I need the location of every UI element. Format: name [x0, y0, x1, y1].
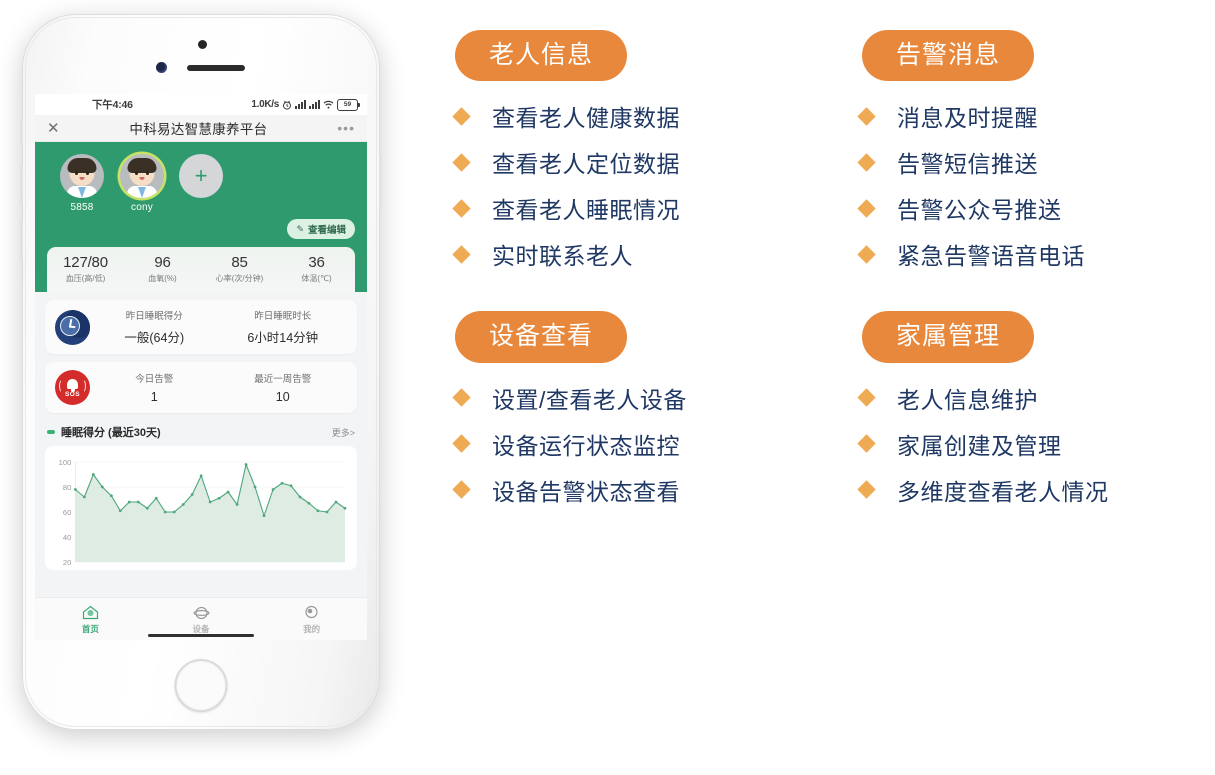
list-item: 实时联系老人: [455, 237, 860, 271]
list-item: 查看老人健康数据: [455, 99, 860, 133]
front-camera-icon: [198, 40, 207, 49]
screen-body: 昨日睡眠得分 一般(64分) 昨日睡眠时长 6小时14分钟 SOS: [35, 300, 367, 570]
list-item: 告警短信推送: [860, 145, 1200, 179]
feature-section-family-management: 家属管理 老人信息维护 家属创建及管理 多维度查看老人情况: [860, 311, 1200, 518]
svg-text:80: 80: [63, 483, 71, 492]
svg-text:40: 40: [63, 533, 71, 542]
bottom-tab-bar: 首页 设备 我的: [35, 597, 367, 640]
feature-list-elder-info: 查看老人健康数据 查看老人定位数据 查看老人睡眠情况 实时联系老人: [455, 99, 860, 271]
sleep-score-value: 一般(64分): [90, 327, 219, 346]
sleep-clock-icon: [55, 310, 90, 345]
avatar-name: cony: [119, 202, 165, 213]
feature-sections: 老人信息 查看老人健康数据 查看老人定位数据 查看老人睡眠情况 实时联系老人 告…: [455, 30, 1200, 519]
list-item: 告警公众号推送: [860, 191, 1200, 225]
vital-value: 96: [124, 254, 201, 271]
vital-heart-rate: 85 心率(次/分钟): [201, 254, 278, 284]
list-item-label: 设备告警状态查看: [492, 473, 680, 507]
silent-switch[interactable]: [20, 118, 23, 144]
tab-profile[interactable]: 我的: [256, 604, 367, 635]
status-bar: 下午4:46 1.0K/s 59: [35, 94, 367, 115]
list-item: 多维度查看老人情况: [860, 473, 1200, 507]
profile-hero: 5858 ✓ cony +: [35, 142, 367, 292]
list-item-label: 实时联系老人: [492, 237, 633, 271]
list-item: 设备告警状态查看: [455, 473, 860, 507]
list-item-label: 查看老人健康数据: [492, 99, 680, 133]
diamond-bullet-icon: [857, 245, 875, 263]
device-icon: [146, 604, 257, 621]
section-title-family-management: 家属管理: [862, 311, 1034, 362]
vital-value: 127/80: [47, 254, 124, 271]
list-item-label: 老人信息维护: [897, 381, 1038, 415]
page-title: 中科易达智慧康养平台: [60, 118, 338, 138]
section-title-elder-info: 老人信息: [455, 30, 627, 81]
section-title-device-view: 设备查看: [455, 311, 627, 362]
list-item-label: 告警公众号推送: [897, 191, 1062, 225]
today-alarm-value: 1: [90, 390, 219, 404]
view-edit-label: 查看编辑: [308, 222, 346, 236]
vital-blood-pressure: 127/80 血压(高/低): [47, 254, 124, 284]
sleep-duration-label: 昨日睡眠时长: [219, 308, 348, 322]
diamond-bullet-icon: [452, 480, 470, 498]
home-icon: [35, 604, 146, 621]
power-button[interactable]: [379, 154, 382, 210]
diamond-bullet-icon: [857, 434, 875, 452]
diamond-bullet-icon: [857, 388, 875, 406]
avatar-list: 5858 ✓ cony +: [47, 154, 355, 213]
vital-label: 血氧(%): [124, 273, 201, 284]
list-item: 消息及时提醒: [860, 99, 1200, 133]
sleep-score-col: 昨日睡眠得分 一般(64分): [90, 308, 219, 346]
avatar-name: 5858: [59, 202, 105, 213]
phone-mockup: 下午4:46 1.0K/s 59 ✕ 中科易达智慧康养平台 •••: [22, 14, 380, 730]
diamond-bullet-icon: [452, 434, 470, 452]
battery-level-text: 59: [344, 101, 351, 108]
list-item-label: 告警短信推送: [897, 145, 1038, 179]
list-item: 紧急告警语音电话: [860, 237, 1200, 271]
sleep-chart-svg: 10080604020: [47, 454, 351, 570]
profile-icon: [256, 604, 367, 621]
list-item-label: 消息及时提醒: [897, 99, 1038, 133]
diamond-bullet-icon: [857, 107, 875, 125]
avatar: [60, 154, 104, 198]
sleep-duration-col: 昨日睡眠时长 6小时14分钟: [219, 308, 348, 346]
list-item-label: 紧急告警语音电话: [897, 237, 1085, 271]
diamond-bullet-icon: [452, 388, 470, 406]
vital-temperature: 36 体温(℃): [278, 254, 355, 284]
list-item-label: 查看老人睡眠情况: [492, 191, 680, 225]
diamond-bullet-icon: [452, 199, 470, 217]
more-link[interactable]: 更多>: [332, 426, 355, 439]
status-right-cluster: 1.0K/s 59: [251, 99, 358, 111]
list-item: 老人信息维护: [860, 381, 1200, 415]
list-item: 设备运行状态监控: [455, 427, 860, 461]
plus-icon: +: [179, 154, 223, 198]
avatar-item-cony[interactable]: ✓ cony: [119, 154, 165, 213]
list-item-label: 多维度查看老人情况: [897, 473, 1109, 507]
section-marker-icon: [47, 430, 55, 434]
add-elder-button[interactable]: +: [179, 154, 225, 198]
list-item-label: 查看老人定位数据: [492, 145, 680, 179]
volume-down-button[interactable]: [20, 219, 23, 261]
vital-blood-oxygen: 96 血氧(%): [124, 254, 201, 284]
list-item: 查看老人定位数据: [455, 145, 860, 179]
wifi-icon: [323, 100, 334, 109]
pencil-icon: ✎: [296, 224, 304, 235]
sleep-chart-title: 睡眠得分 (最近30天): [61, 424, 161, 440]
diamond-bullet-icon: [452, 107, 470, 125]
more-options-icon[interactable]: •••: [337, 121, 355, 135]
list-item-label: 设备运行状态监控: [492, 427, 680, 461]
list-item-label: 家属创建及管理: [897, 427, 1062, 461]
feature-section-device-view: 设备查看 设置/查看老人设备 设备运行状态监控 设备告警状态查看: [455, 311, 860, 518]
home-button[interactable]: [175, 659, 228, 712]
vital-value: 36: [278, 254, 355, 271]
alarm-summary-card[interactable]: SOS 今日告警 1 最近一周告警 10: [45, 362, 357, 413]
feature-list-alarm-message: 消息及时提醒 告警短信推送 告警公众号推送 紧急告警语音电话: [860, 99, 1200, 271]
sleep-summary-card[interactable]: 昨日睡眠得分 一般(64分) 昨日睡眠时长 6小时14分钟: [45, 300, 357, 354]
vital-label: 心率(次/分钟): [201, 273, 278, 284]
feature-section-alarm-message: 告警消息 消息及时提醒 告警短信推送 告警公众号推送 紧急告警语音电话: [860, 30, 1200, 283]
tab-home-label: 首页: [35, 623, 146, 635]
list-item: 查看老人睡眠情况: [455, 191, 860, 225]
volume-up-button[interactable]: [20, 164, 23, 206]
tab-profile-label: 我的: [256, 623, 367, 635]
sleep-chart-header: 睡眠得分 (最近30天) 更多>: [45, 424, 357, 440]
signal-bars-icon-2: [309, 100, 320, 109]
proximity-sensor-icon: [156, 62, 167, 73]
sos-bell-icon: SOS: [55, 370, 90, 405]
vital-label: 体温(℃): [278, 273, 355, 284]
feature-list-family-management: 老人信息维护 家属创建及管理 多维度查看老人情况: [860, 381, 1200, 507]
earpiece-speaker: [187, 65, 245, 71]
diamond-bullet-icon: [857, 199, 875, 217]
today-alarm-label: 今日告警: [90, 371, 219, 385]
vital-value: 85: [201, 254, 278, 271]
today-alarm-col: 今日告警 1: [90, 371, 219, 404]
list-item-label: 设置/查看老人设备: [492, 381, 687, 415]
feature-list-device-view: 设置/查看老人设备 设备运行状态监控 设备告警状态查看: [455, 381, 860, 507]
week-alarm-label: 最近一周告警: [219, 371, 348, 385]
diamond-bullet-icon: [452, 245, 470, 263]
battery-icon: 59: [337, 99, 358, 111]
tab-device-label: 设备: [146, 623, 257, 635]
app-title-bar: ✕ 中科易达智慧康养平台 •••: [35, 115, 367, 142]
sleep-score-label: 昨日睡眠得分: [90, 308, 219, 322]
network-speed-text: 1.0K/s: [251, 99, 279, 110]
list-item: 家属创建及管理: [860, 427, 1200, 461]
tab-home[interactable]: 首页: [35, 604, 146, 635]
diamond-bullet-icon: [857, 153, 875, 171]
vitals-panel: 127/80 血压(高/低) 96 血氧(%) 85 心率(次/分钟) 36 体…: [47, 247, 355, 292]
diamond-bullet-icon: [452, 153, 470, 171]
svg-text:20: 20: [63, 558, 71, 567]
avatar: ✓: [120, 154, 164, 198]
avatar-item-5858[interactable]: 5858: [59, 154, 105, 213]
sos-text: SOS: [65, 391, 80, 398]
week-alarm-col: 最近一周告警 10: [219, 371, 348, 404]
alarm-clock-icon: [282, 100, 292, 110]
svg-text:100: 100: [59, 458, 72, 467]
tab-device[interactable]: 设备: [146, 604, 257, 635]
home-indicator: [148, 634, 254, 637]
signal-bars-icon: [295, 100, 306, 109]
close-icon[interactable]: ✕: [47, 121, 60, 136]
selected-check-icon: ✓: [152, 154, 164, 165]
feature-section-elder-info: 老人信息 查看老人健康数据 查看老人定位数据 查看老人睡眠情况 实时联系老人: [455, 30, 860, 283]
sleep-duration-value: 6小时14分钟: [219, 327, 348, 346]
sleep-score-chart[interactable]: 10080604020: [45, 446, 357, 570]
list-item: 设置/查看老人设备: [455, 381, 860, 415]
vital-label: 血压(高/低): [47, 273, 124, 284]
svg-text:60: 60: [63, 508, 71, 517]
week-alarm-value: 10: [219, 390, 348, 404]
section-title-alarm-message: 告警消息: [862, 30, 1034, 81]
diamond-bullet-icon: [857, 480, 875, 498]
status-time: 下午4:46: [92, 97, 133, 112]
view-edit-button[interactable]: ✎ 查看编辑: [287, 219, 355, 239]
phone-screen: 下午4:46 1.0K/s 59 ✕ 中科易达智慧康养平台 •••: [35, 94, 367, 640]
